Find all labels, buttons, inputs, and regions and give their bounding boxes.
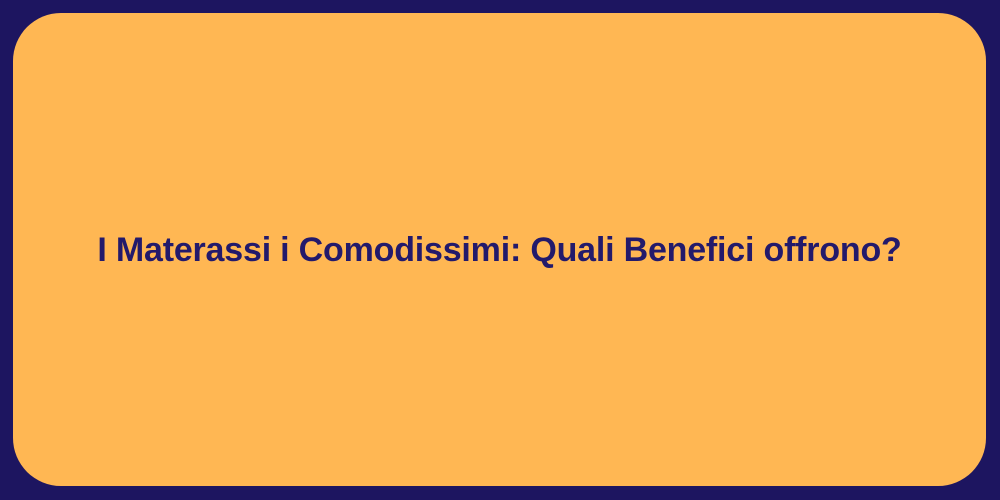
banner-frame: I Materassi i Comodissimi: Quali Benefic… [0,0,1000,500]
page-title: I Materassi i Comodissimi: Quali Benefic… [13,229,986,272]
banner-panel: I Materassi i Comodissimi: Quali Benefic… [13,13,986,486]
